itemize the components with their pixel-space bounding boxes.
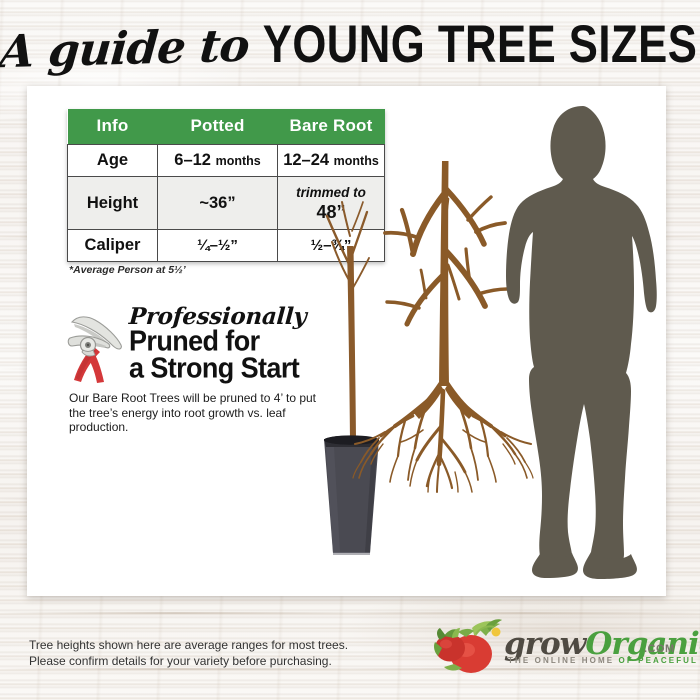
table-header-potted: Potted (158, 109, 278, 145)
pruned-line3: a Strong Start (129, 354, 307, 383)
disclaimer-line2: Please confirm details for your variety … (29, 654, 359, 670)
pruned-headline: Professionally Pruned for a Strong Start (129, 304, 307, 383)
table-header-bare-root: Bare Root (278, 109, 385, 145)
logo-tagline: THE ONLINE HOME OF PEACEFUL VALLEY (508, 656, 700, 665)
table-header-info: Info (68, 109, 158, 145)
page-title-caps: YOUNG TREE SIZES (263, 14, 698, 75)
cell-age-bare-root: 12–24 months (278, 145, 385, 177)
footer-disclaimer: Tree heights shown here are average rang… (29, 638, 359, 669)
pruned-body-line2: the tree’s energy into root growth vs. l… (69, 406, 341, 435)
page-title: A guide toYOUNG TREE SIZES (0, 22, 700, 84)
table-row: Age 6–12 months 12–24 months (68, 145, 385, 177)
pruned-body-text: Our Bare Root Trees will be pruned to 4’… (69, 391, 341, 435)
cell-age-potted: 6–12 months (158, 145, 278, 177)
cell-caliper-potted: ¼–½” (158, 230, 278, 262)
pruned-body-line1: Our Bare Root Trees will be pruned to 4’… (69, 391, 341, 406)
table-row: Caliper ¼–½” ½–¾” (68, 230, 385, 262)
pruning-shears-icon (64, 312, 128, 386)
tree-size-table: Info Potted Bare Root Age 6–12 months 12… (67, 109, 385, 262)
grow-organic-logo[interactable]: growOrganic .COM THE ONLINE HOME OF PEAC… (432, 618, 680, 680)
average-person-note: *Average Person at 5½’ (69, 264, 186, 276)
cell-height-bare-root: trimmed to 48” (278, 177, 385, 230)
row-label-caliper: Caliper (68, 230, 158, 262)
table-row: Height ~36” trimmed to 48” (68, 177, 385, 230)
disclaimer-line1: Tree heights shown here are average rang… (29, 638, 359, 654)
cell-height-potted: ~36” (158, 177, 278, 230)
table-header-row: Info Potted Bare Root (68, 109, 385, 145)
row-label-age: Age (68, 145, 158, 177)
row-label-height: Height (68, 177, 158, 230)
cell-caliper-bare-root: ½–¾” (278, 230, 385, 262)
person-silhouette-illustration (506, 106, 657, 579)
page-title-script: A guide to (0, 19, 251, 78)
logo-dotcom: .COM (644, 643, 675, 655)
content-card: Info Potted Bare Root Age 6–12 months 12… (27, 86, 666, 596)
